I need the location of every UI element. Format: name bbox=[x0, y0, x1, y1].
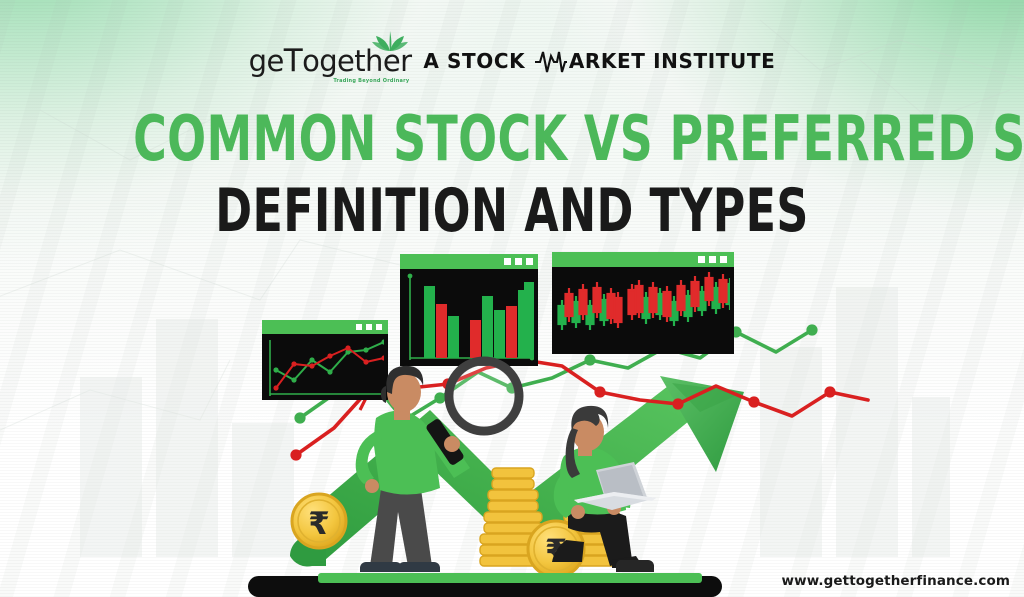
stock-market-blog-banner: geTogether Trading Beyond Ordinary A STO… bbox=[0, 0, 1024, 597]
black-platform-base bbox=[248, 573, 722, 597]
rupee-coin-left: ₹ bbox=[292, 494, 346, 548]
bar-chart-window-dots bbox=[504, 258, 533, 265]
bar-chart-window[interactable] bbox=[400, 254, 538, 366]
line-chart-window-dots bbox=[356, 324, 382, 330]
candlestick-chart-window[interactable] bbox=[552, 252, 734, 354]
stock-market-hero-illustration: ₹ ₹ bbox=[0, 0, 1024, 597]
candle-window-dots bbox=[698, 256, 727, 263]
website-url[interactable]: www.gettogetherfinance.com bbox=[782, 573, 1010, 589]
svg-text:₹: ₹ bbox=[308, 506, 330, 542]
line-chart-window[interactable] bbox=[262, 320, 388, 400]
